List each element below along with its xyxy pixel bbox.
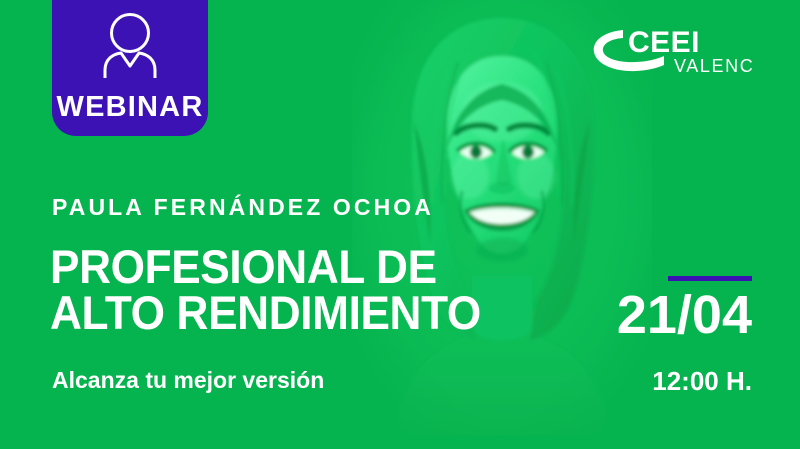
webinar-badge: WEBINAR (52, 0, 208, 136)
logo-brand-text: CEEI (628, 26, 700, 59)
person-icon (99, 12, 161, 78)
event-date: 21/04 (617, 288, 752, 342)
headline-line-2: ALTO RENDIMIENTO (50, 290, 481, 336)
webinar-poster: WEBINAR CEEI VALENCIA PAULA FERNÁNDEZ OC… (0, 0, 800, 449)
webinar-badge-label: WEBINAR (52, 93, 208, 122)
headline-line-1: PROFESIONAL DE (50, 244, 481, 290)
logo-region-text: VALENCIA (674, 56, 754, 76)
headline: PROFESIONAL DE ALTO RENDIMIENTO (50, 244, 481, 335)
tagline: Alcanza tu mejor versión (52, 369, 324, 392)
date-accent-rule (668, 276, 752, 281)
speaker-name: PAULA FERNÁNDEZ OCHOA (52, 196, 434, 219)
ceei-valencia-logo: CEEI VALENCIA (590, 22, 754, 84)
event-time: 12:00 H. (652, 368, 752, 394)
